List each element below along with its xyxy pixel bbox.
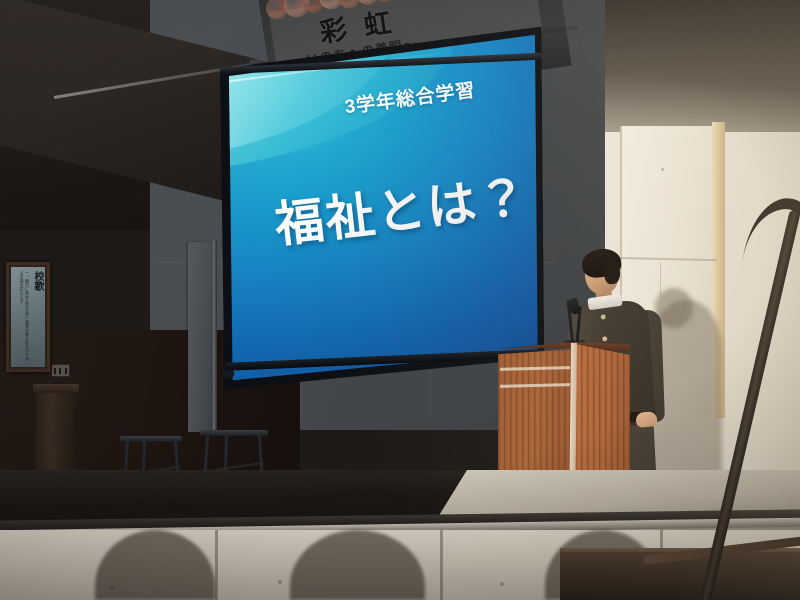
stage-panel-fastener: [500, 582, 504, 586]
wall-column-cap: [33, 384, 79, 393]
wall-side-panel-edge: [213, 240, 217, 435]
poster-title: 校歌: [32, 271, 42, 363]
projection-screen: 3学年総合学習 福祉とは？: [211, 27, 544, 390]
wall-fixture-dot: [661, 168, 664, 171]
gakuran-button: [601, 314, 606, 319]
screen-surface: 3学年総合学習 福祉とは？: [211, 27, 544, 390]
poster-body-text: 一、朝日に映ゆる学び舎に 我等が集う若き日の 明るき窓の花ひらき: [19, 271, 30, 363]
presenter-right-hand: [635, 411, 657, 428]
wall-outlet-icon: [51, 364, 70, 377]
stool-seat: [120, 436, 182, 442]
right-wall-upper-shadow: [605, 0, 800, 132]
stage-panel-fastener: [278, 580, 282, 584]
stage-panel-seam: [215, 530, 218, 600]
poster-sheet: 校歌 一、朝日に映ゆる学び舎に 我等が集う若き日の 明るき窓の花ひらき: [11, 267, 45, 367]
wall-side-panel: [188, 242, 214, 432]
slide-title: 福祉とは？: [271, 158, 532, 257]
school-song-poster: 校歌 一、朝日に映ゆる学び舎に 我等が集う若き日の 明るき窓の花ひらき: [6, 262, 50, 372]
stage-panel-seam: [440, 530, 443, 600]
stage-presentation-photo: 校歌 一、朝日に映ゆる学び舎に 我等が集う若き日の 明るき窓の花ひらき 彩 虹 …: [0, 0, 800, 600]
